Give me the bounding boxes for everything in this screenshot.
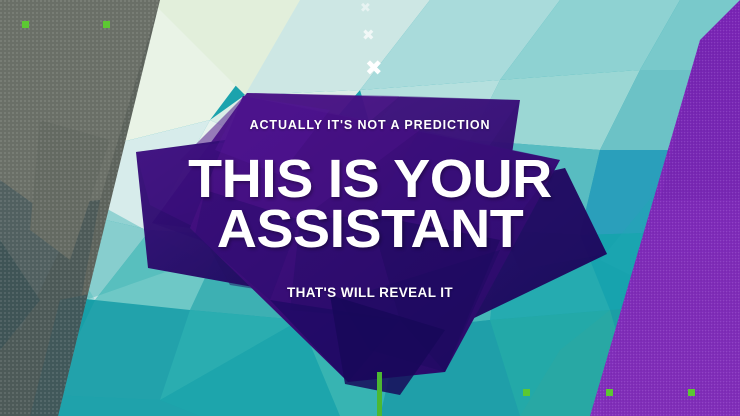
x-cross-icon-medium: ✖	[362, 28, 375, 43]
x-cross-icon-small: ✖	[360, 2, 371, 15]
slide-canvas: ✖ ✖ ✖ ACTUALLY IT'S NOT A PREDICTION THI…	[0, 0, 740, 416]
green-square-bottom-2	[606, 389, 613, 396]
green-square-top-left-2	[103, 21, 110, 28]
green-square-bottom-3	[688, 389, 695, 396]
green-vertical-bar	[377, 372, 382, 416]
green-square-top-left-1	[22, 21, 29, 28]
x-cross-icon-large: ✖	[365, 58, 383, 79]
green-square-bottom-1	[523, 389, 530, 396]
